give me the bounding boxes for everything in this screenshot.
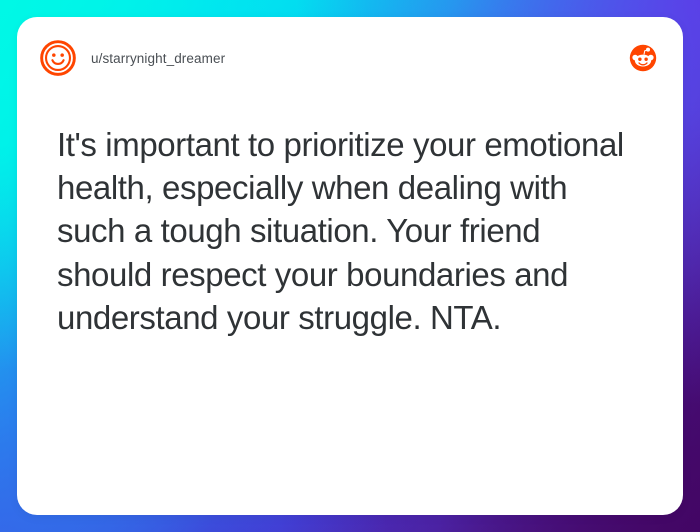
screenshot-root: u/starrynight_dreamer It's important to … <box>0 0 700 532</box>
post-text: It's important to prioritize your emotio… <box>57 123 643 339</box>
username-label[interactable]: u/starrynight_dreamer <box>91 51 225 66</box>
card-header: u/starrynight_dreamer <box>17 17 683 79</box>
avatar-smiley-icon[interactable] <box>39 39 77 77</box>
card-body: It's important to prioritize your emotio… <box>17 79 683 515</box>
reddit-snoo-icon[interactable] <box>627 42 659 74</box>
reddit-comment-card: u/starrynight_dreamer It's important to … <box>17 17 683 515</box>
